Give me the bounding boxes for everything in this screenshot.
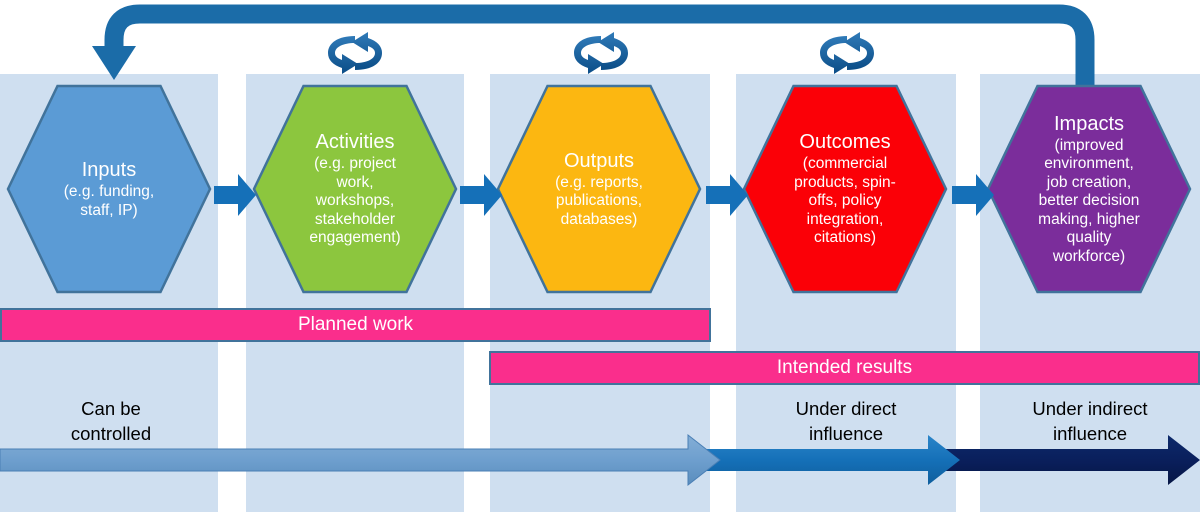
cycle-refresh-icon	[566, 28, 636, 78]
influence-arrow-controlled	[0, 435, 720, 485]
right-arrow-icon	[214, 172, 256, 218]
right-arrow-icon	[460, 172, 502, 218]
hexagon-shape-inputs	[6, 84, 212, 294]
stage-node-activities[interactable]: Activities (e.g. project work, workshops…	[252, 84, 458, 294]
stage-node-outcomes[interactable]: Outcomes (commercial products, spin- off…	[742, 84, 948, 294]
hexagon-shape-impacts	[986, 84, 1192, 294]
banner-label-planned-work: Planned work	[298, 314, 413, 336]
banner-planned-work: Planned work	[0, 308, 711, 342]
cycle-refresh-icon	[812, 28, 882, 78]
logic-model-diagram: Inputs (e.g. funding, staff, IP) Activit…	[0, 0, 1200, 512]
banner-intended-results: Intended results	[489, 351, 1200, 385]
influence-gradient-arrows	[0, 432, 1200, 488]
hexagon-shape-outputs	[496, 84, 702, 294]
cycle-refresh-icon	[320, 28, 390, 78]
stage-node-inputs[interactable]: Inputs (e.g. funding, staff, IP)	[6, 84, 212, 294]
banner-label-intended-results: Intended results	[777, 357, 912, 379]
stage-node-impacts[interactable]: Impacts (improved environment, job creat…	[986, 84, 1192, 294]
stage-node-outputs[interactable]: Outputs (e.g. reports, publications, dat…	[496, 84, 702, 294]
hexagon-shape-outcomes	[742, 84, 948, 294]
right-arrow-icon	[952, 172, 994, 218]
hexagon-shape-activities	[252, 84, 458, 294]
right-arrow-icon	[706, 172, 748, 218]
